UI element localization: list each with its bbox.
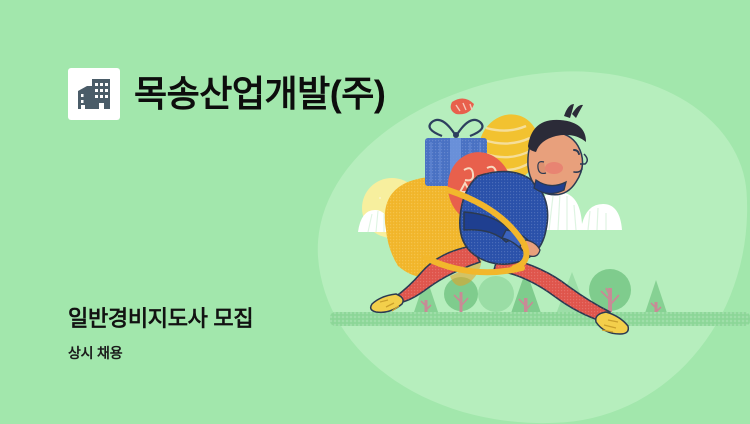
job-caption: 일반경비지도사 모집 상시 채용 (68, 305, 253, 363)
job-title: 일반경비지도사 모집 (68, 305, 253, 333)
job-subtitle: 상시 채용 (68, 343, 253, 363)
recruitment-banner: 목송산업개발(주) 일반경비지도사 모집 상시 채용 (0, 0, 750, 424)
office-building-icon (75, 75, 113, 113)
company-header: 목송산업개발(주) (68, 68, 385, 120)
tree-pine (644, 280, 668, 317)
candy-small-icon (451, 98, 474, 114)
company-logo (68, 68, 120, 120)
runner-shoe-back (371, 294, 403, 312)
tree-round-pale (478, 276, 514, 312)
running-person-with-gift-sack-illustration (330, 80, 750, 340)
company-name: 목송산업개발(주) (134, 76, 385, 112)
runner-head (528, 104, 587, 195)
grass-strip (330, 312, 750, 326)
